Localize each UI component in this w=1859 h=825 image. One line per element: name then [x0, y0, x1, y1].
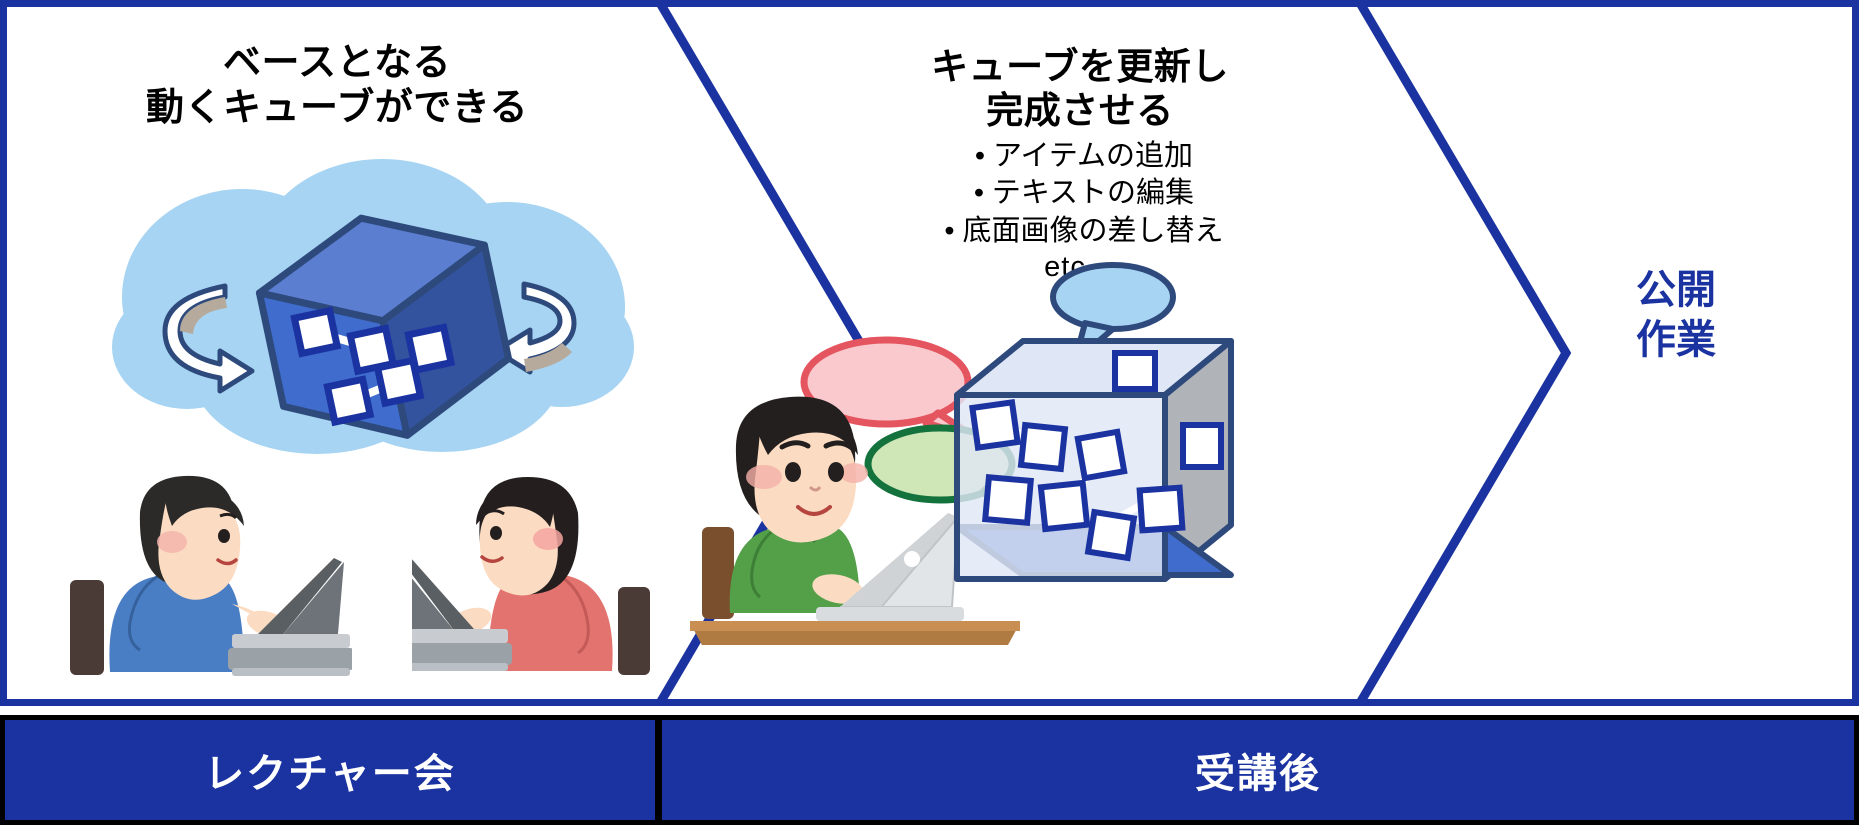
phase-bar-after-lecture-label: 受講後 [1195, 741, 1321, 799]
slide-canvas: ベースとなる 動くキューブができる [0, 0, 1859, 825]
phase-bar-lecture-label: レクチャー会 [204, 741, 456, 799]
panel-update-cube-bullet-list: •アイテムの追加 •テキストの編集 •底面画像の差し替え [680, 138, 1480, 249]
list-item: •テキストの編集 [680, 175, 1480, 212]
list-item: •底面画像の差し替え [680, 213, 1480, 250]
panel-publish-title: 公開 作業 [1500, 265, 1852, 365]
panel-base-cube: ベースとなる 動くキューブができる [7, 7, 667, 699]
bullet-text: アイテムの追加 [993, 140, 1193, 172]
panel-update-cube-title: キューブを更新し 完成させる [680, 7, 1480, 132]
bullet-text: 底面画像の差し替え [962, 215, 1223, 247]
panel-base-cube-title-line2: 動くキューブができる [7, 86, 667, 131]
sticky-note-cube-illustration [945, 257, 1275, 597]
panel-publish: 公開 作業 [1500, 7, 1852, 699]
panel-update-cube-title-line2: 完成させる [680, 89, 1480, 133]
bullet-dot-icon: • [936, 213, 962, 250]
bullet-dot-icon: • [966, 175, 992, 212]
panel-publish-title-line2: 作業 [1500, 315, 1852, 365]
panel-base-cube-title: ベースとなる 動くキューブができる [7, 7, 667, 131]
panel-base-cube-title-line1: ベースとなる [7, 41, 667, 86]
panel-update-cube: キューブを更新し 完成させる •アイテムの追加 •テキストの編集 •底面画像の差… [680, 7, 1480, 699]
phase-bar-lecture: レクチャー会 [0, 715, 660, 825]
panel-update-cube-title-line1: キューブを更新し [680, 45, 1480, 89]
bullet-text: テキストの編集 [992, 177, 1194, 209]
bullet-dot-icon: • [967, 138, 993, 175]
panel-publish-title-line1: 公開 [1500, 265, 1852, 315]
list-item: •アイテムの追加 [680, 138, 1480, 175]
phase-bar-after-lecture: 受講後 [657, 715, 1859, 825]
person-male-at-laptop-illustration [62, 472, 352, 682]
cloud-cube-illustration [92, 157, 652, 457]
person-female-at-laptop-illustration [412, 469, 662, 684]
